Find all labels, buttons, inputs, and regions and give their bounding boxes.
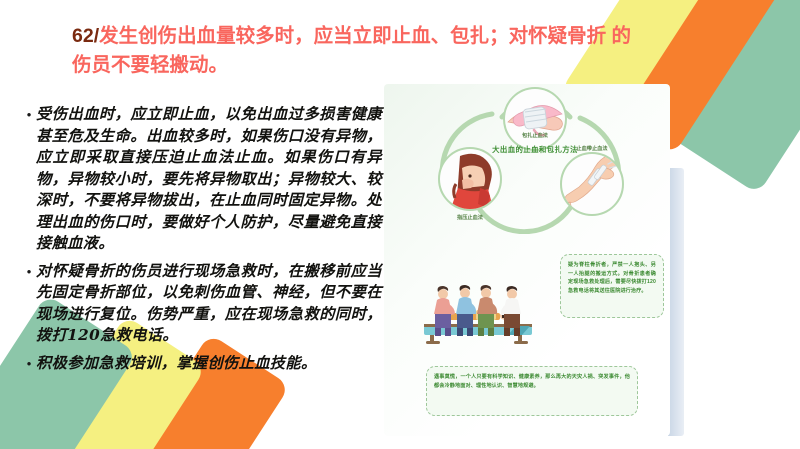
note-text: 遇事莫慌，一个人只要有科学知识、健康素养，那么再大的天灾人祸、突发事件，他都会冷… [434, 373, 630, 390]
list-item: • 对怀疑骨折的伤员进行现场急救时，在搬移前应当先固定骨折部位，以免刺伤血管、神… [22, 261, 382, 347]
bullet-paragraph: 受伤出血时，应立即止血，以免出血过多损害健康甚至危及生命。出血较多时，如果伤口没… [36, 104, 382, 255]
infographic-panel: 包扎止血法 指压止血法 [384, 84, 670, 436]
list-item: • 积极参加急救培训，掌握创伤止血技能。 [22, 353, 382, 375]
panel-edge-shadow [668, 168, 684, 436]
bullet-marker: • [22, 261, 36, 283]
bullet-paragraph: 对怀疑骨折的伤员进行现场急救时，在搬移前应当先固定骨折部位，以免刺伤血管、神经，… [36, 261, 382, 347]
note-text: 疑为脊柱骨折者，严禁一人抱头、另一人抬腿的搬运方式。对骨折患者确定现场急救处理后… [568, 261, 656, 295]
circle-label-top: 包扎止血法 [522, 131, 548, 139]
bullet-paragraph: 积极参加急救培训，掌握创伤止血技能。 [36, 353, 382, 375]
stretcher-carry-illustration [420, 280, 538, 350]
stretcher-svg [420, 280, 538, 350]
title-number: 62/ [72, 25, 99, 47]
diagram-center-label: 大出血的止血和包扎方法 [480, 144, 590, 155]
note-box-fracture-transport: 疑为脊柱骨折者，严禁一人抱头、另一人抬腿的搬运方式。对骨折患者确定现场急救处理后… [560, 254, 664, 318]
circle-label-left: 指压止血法 [457, 213, 483, 221]
bullet-marker: • [22, 104, 36, 126]
bandaged-hand-icon [505, 89, 565, 149]
hemostasis-circle-diagram: 包扎止血法 指压止血法 [384, 84, 670, 234]
note-box-stay-calm: 遇事莫慌，一个人只要有科学知识、健康素养，那么再大的天灾人祸、突发事件，他都会冷… [426, 366, 638, 416]
slide-title: 62/发生创伤出血量较多时，应当立即止血、包扎；对怀疑骨折 的伤员不要轻搬动。 [72, 22, 632, 80]
bullet-list: • 受伤出血时，应立即止血，以免出血过多损害健康甚至危及生命。出血较多时，如果伤… [22, 104, 382, 380]
bullet-marker: • [22, 353, 36, 375]
list-item: • 受伤出血时，应立即止血，以免出血过多损害健康甚至危及生命。出血较多时，如果伤… [22, 104, 382, 255]
title-text: 发生创伤出血量较多时，应当立即止血、包扎；对怀疑骨折 的伤员不要轻搬动。 [72, 25, 631, 76]
circle-diagram-svg: 包扎止血法 指压止血法 [384, 84, 670, 234]
slide-canvas: 62/发生创伤出血量较多时，应当立即止血、包扎；对怀疑骨折 的伤员不要轻搬动。 … [0, 0, 800, 449]
